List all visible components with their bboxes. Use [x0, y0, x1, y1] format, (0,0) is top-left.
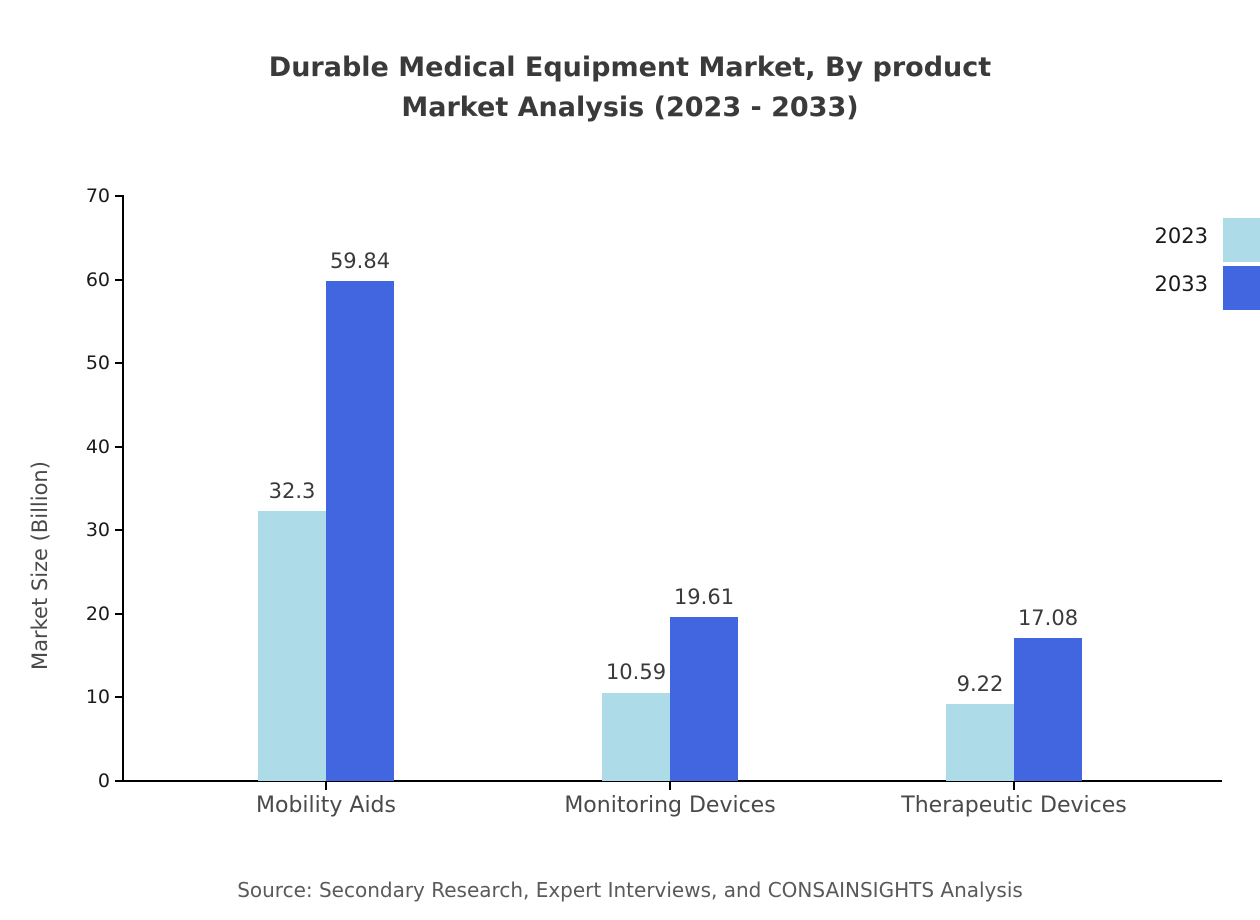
legend-item-2023[interactable]: 2023: [1130, 218, 1260, 266]
chart-legend: 2023 2033: [1130, 218, 1260, 314]
y-tick-mark: [115, 696, 122, 698]
legend-swatch-2023: [1223, 218, 1260, 262]
bar-value-label: 32.3: [269, 479, 316, 503]
chart-figure: Durable Medical Equipment Market, By pro…: [0, 0, 1260, 920]
chart-title-line-1: Durable Medical Equipment Market, By pro…: [0, 48, 1260, 88]
y-tick-mark: [115, 362, 122, 364]
bar-2033-therapeutic-devices[interactable]: [1014, 638, 1082, 781]
y-tick-label: 20: [86, 603, 110, 625]
y-tick-label: 70: [86, 185, 110, 207]
y-tick-label: 30: [86, 519, 110, 541]
y-tick-mark: [115, 780, 122, 782]
legend-item-2033[interactable]: 2033: [1130, 266, 1260, 314]
x-tick-mark: [1013, 782, 1015, 790]
bar-value-label: 9.22: [957, 672, 1004, 696]
bar-value-label: 59.84: [330, 249, 390, 273]
bar-value-label: 19.61: [674, 585, 734, 609]
bar-2033-monitoring-devices[interactable]: [670, 617, 738, 781]
bar-2023-monitoring-devices[interactable]: [602, 693, 670, 782]
x-tick-label-monitoring-devices: Monitoring Devices: [564, 793, 775, 818]
y-tick-label: 50: [86, 352, 110, 374]
bar-2033-mobility-aids[interactable]: [326, 281, 394, 781]
y-tick-label: 10: [86, 686, 110, 708]
y-tick-mark: [115, 446, 122, 448]
y-tick-mark: [115, 613, 122, 615]
bar-value-label: 10.59: [606, 660, 666, 684]
legend-label-2023: 2023: [1155, 224, 1208, 248]
x-tick-mark: [669, 782, 671, 790]
source-note: Source: Secondary Research, Expert Inter…: [0, 878, 1260, 902]
bar-value-label: 17.08: [1018, 606, 1078, 630]
y-tick-label: 60: [86, 269, 110, 291]
legend-swatch-2033: [1223, 266, 1260, 310]
x-tick-label-therapeutic-devices: Therapeutic Devices: [901, 793, 1126, 818]
x-tick-mark: [325, 782, 327, 790]
x-tick-label-mobility-aids: Mobility Aids: [256, 793, 396, 818]
y-tick-mark: [115, 529, 122, 531]
y-tick-mark: [115, 195, 122, 197]
y-axis-label: Market Size (Billion): [28, 250, 52, 670]
bar-2023-therapeutic-devices[interactable]: [946, 704, 1014, 781]
bar-2023-mobility-aids[interactable]: [258, 511, 326, 781]
chart-title: Durable Medical Equipment Market, By pro…: [0, 48, 1260, 128]
chart-title-line-2: Market Analysis (2023 - 2033): [0, 88, 1260, 128]
plot-area: 010203040506070 32.359.8410.5919.619.221…: [122, 196, 1222, 781]
y-tick-label: 0: [98, 770, 110, 792]
legend-label-2033: 2033: [1155, 272, 1208, 296]
y-tick-label: 40: [86, 436, 110, 458]
y-tick-mark: [115, 279, 122, 281]
